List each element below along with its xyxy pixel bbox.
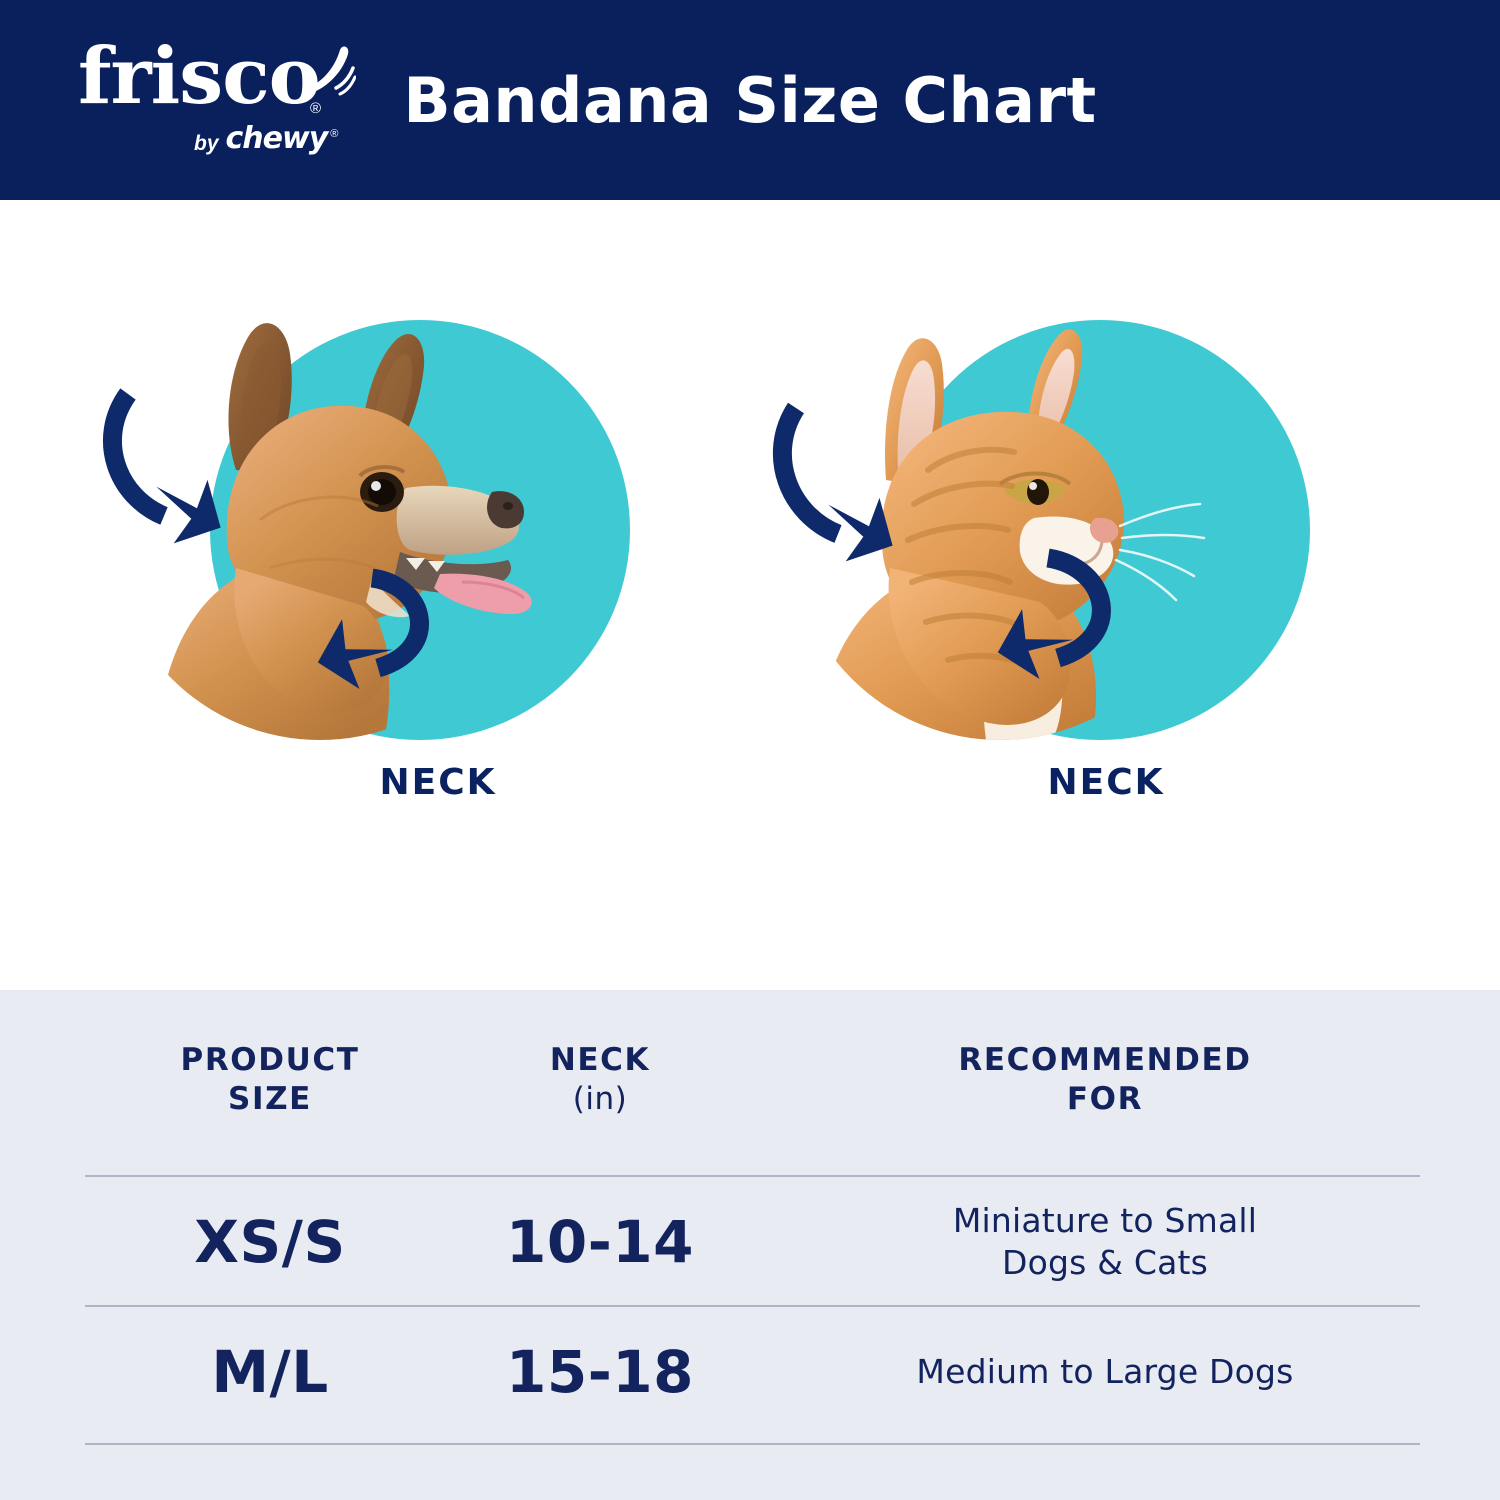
dog-neck-label: NECK: [128, 762, 748, 803]
logo-by-text: by: [194, 133, 219, 154]
page-header: frisco ® by chewy ® Bandana Size Chart: [0, 0, 1500, 200]
registered-mark: ®: [310, 100, 321, 117]
cat-profile-photo: [790, 320, 1210, 740]
chewy-wordmark: chewy: [226, 124, 328, 154]
logo-swoosh-icon: [300, 44, 356, 96]
cell-product-size: XS/S: [85, 1208, 455, 1276]
size-table: PRODUCT SIZE NECK (in) RECOMMENDED FOR X…: [0, 990, 1500, 1500]
row-divider: [85, 1175, 1420, 1177]
dog-profile-photo: [110, 320, 530, 740]
size-chart-page: frisco ® by chewy ® Bandana Size Chart: [0, 0, 1500, 1500]
cell-neck: 15-18: [455, 1338, 745, 1406]
dog-illustration-panel: NECK: [110, 320, 730, 920]
row-divider: [85, 1443, 1420, 1445]
illustration-area: NECK: [0, 200, 1500, 990]
table-row: XS/S 10-14 Miniature to Small Dogs & Cat…: [0, 1178, 1500, 1306]
logo-subline: by chewy ®: [194, 124, 338, 154]
column-header-neck: NECK (in): [455, 1041, 745, 1119]
cell-neck: 10-14: [455, 1208, 745, 1276]
frisco-logo[interactable]: frisco ® by chewy ®: [78, 38, 378, 168]
cat-neck-label: NECK: [796, 762, 1416, 803]
cell-product-size: M/L: [85, 1338, 455, 1406]
brand-name: frisco: [78, 38, 320, 116]
cell-recommended-for: Medium to Large Dogs: [745, 1351, 1465, 1393]
table-row: M/L 15-18 Medium to Large Dogs: [0, 1308, 1500, 1436]
cat-illustration-panel: NECK: [790, 320, 1410, 920]
row-divider: [85, 1305, 1420, 1307]
table-header-row: PRODUCT SIZE NECK (in) RECOMMENDED FOR: [0, 1010, 1500, 1150]
chewy-registered-mark: ®: [330, 128, 338, 140]
column-header-recommended-for: RECOMMENDED FOR: [745, 1041, 1465, 1119]
cell-recommended-for: Miniature to Small Dogs & Cats: [745, 1200, 1465, 1284]
column-header-product-size: PRODUCT SIZE: [85, 1041, 455, 1119]
